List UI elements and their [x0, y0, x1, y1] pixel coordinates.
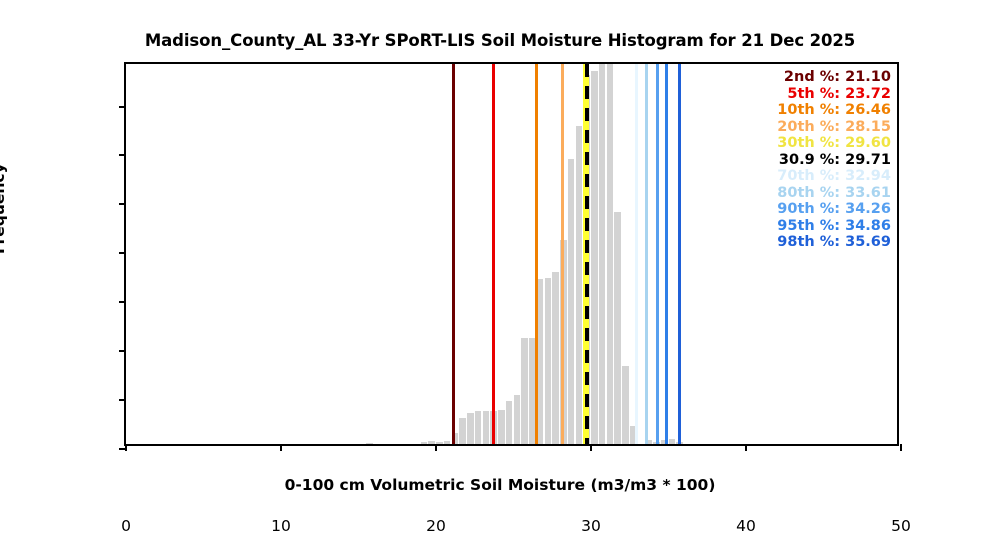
histogram-bar [506, 401, 513, 444]
x-tick [745, 444, 747, 451]
dash-segment [585, 130, 589, 143]
histogram-bar [421, 442, 428, 444]
percentile-line-2nd [452, 64, 455, 444]
legend-entry: 80th %: 33.61 [777, 185, 891, 202]
legend-entry: 10th %: 26.46 [777, 102, 891, 119]
plot-area: 2nd %: 21.105th %: 23.7210th %: 26.4620t… [124, 62, 899, 446]
y-tick [119, 154, 126, 156]
histogram-bar [545, 278, 552, 444]
dash-segment [585, 262, 589, 275]
legend-entry: 98th %: 35.69 [777, 234, 891, 251]
percentile-line-70th [635, 64, 638, 444]
dash-segment [585, 86, 589, 99]
histogram-bar [599, 64, 606, 444]
histogram-bar [614, 212, 621, 444]
histogram-bar [552, 272, 559, 444]
x-tick-label: 50 [891, 517, 911, 535]
percentile-line-20th [561, 64, 564, 444]
histogram-bar [366, 443, 373, 444]
histogram-bar [669, 439, 676, 444]
x-tick [900, 444, 902, 451]
histogram-bar [428, 441, 435, 444]
histogram-figure: Madison_County_AL 33-Yr SPoRT-LIS Soil M… [0, 0, 1000, 500]
dash-segment [585, 108, 589, 121]
percentile-line-10th [535, 64, 538, 444]
y-axis-label: Frequency [0, 163, 8, 254]
chart-title: Madison_County_AL 33-Yr SPoRT-LIS Soil M… [0, 31, 1000, 50]
legend-entry: 2nd %: 21.10 [777, 69, 891, 86]
y-tick [119, 399, 126, 401]
dash-segment [585, 416, 589, 429]
y-tick [119, 106, 126, 108]
histogram-bar [483, 411, 490, 444]
y-tick [119, 203, 126, 205]
percentile-line-98th [678, 64, 681, 444]
legend-entry: 95th %: 34.86 [777, 218, 891, 235]
histogram-bar [521, 338, 528, 444]
legend-entry: 90th %: 34.26 [777, 201, 891, 218]
x-tick-label: 40 [736, 517, 756, 535]
percentile-line-90th [656, 64, 659, 444]
dash-segment [585, 240, 589, 253]
x-axis-label: 0-100 cm Volumetric Soil Moisture (m3/m3… [0, 476, 1000, 494]
legend-entry: 70th %: 32.94 [777, 168, 891, 185]
dash-segment [585, 350, 589, 363]
dash-segment [585, 64, 589, 77]
y-tick [119, 252, 126, 254]
dash-segment [585, 174, 589, 187]
x-tick [280, 444, 282, 451]
histogram-bar [514, 395, 521, 444]
percentile-line-80th [645, 64, 648, 444]
dash-segment [585, 328, 589, 341]
histogram-bar [459, 418, 466, 444]
x-tick-label: 30 [581, 517, 601, 535]
legend-entry: 5th %: 23.72 [777, 86, 891, 103]
histogram-bar [607, 64, 614, 444]
x-tick-label: 20 [426, 517, 446, 535]
dash-segment [585, 394, 589, 407]
histogram-bar [622, 366, 629, 444]
dash-segment [585, 438, 589, 444]
y-tick [119, 350, 126, 352]
legend-entry: 20th %: 28.15 [777, 119, 891, 136]
dash-segment [585, 196, 589, 209]
dash-segment [585, 152, 589, 165]
percentile-legend: 2nd %: 21.105th %: 23.7210th %: 26.4620t… [777, 69, 891, 251]
legend-entry: 30th %: 29.60 [777, 135, 891, 152]
histogram-bar [537, 279, 544, 444]
percentile-line-5th [492, 64, 495, 444]
histogram-bar [498, 410, 505, 444]
histogram-bar [444, 441, 451, 444]
dash-segment [585, 306, 589, 319]
y-tick [119, 301, 126, 303]
dash-segment [585, 284, 589, 297]
histogram-bar [467, 413, 474, 444]
histogram-bar [475, 411, 482, 444]
x-tick [435, 444, 437, 451]
x-tick-label: 10 [271, 517, 291, 535]
legend-entry: 30.9 %: 29.71 [777, 152, 891, 169]
histogram-bar [568, 159, 575, 444]
x-tick [590, 444, 592, 451]
histogram-bar [591, 71, 598, 444]
percentile-line-95th [665, 64, 668, 444]
x-tick-label: 0 [121, 517, 131, 535]
dash-segment [585, 372, 589, 385]
percentile-line-30-9 [585, 64, 589, 444]
x-tick [125, 444, 127, 451]
histogram-bar [576, 126, 583, 444]
dash-segment [585, 218, 589, 231]
